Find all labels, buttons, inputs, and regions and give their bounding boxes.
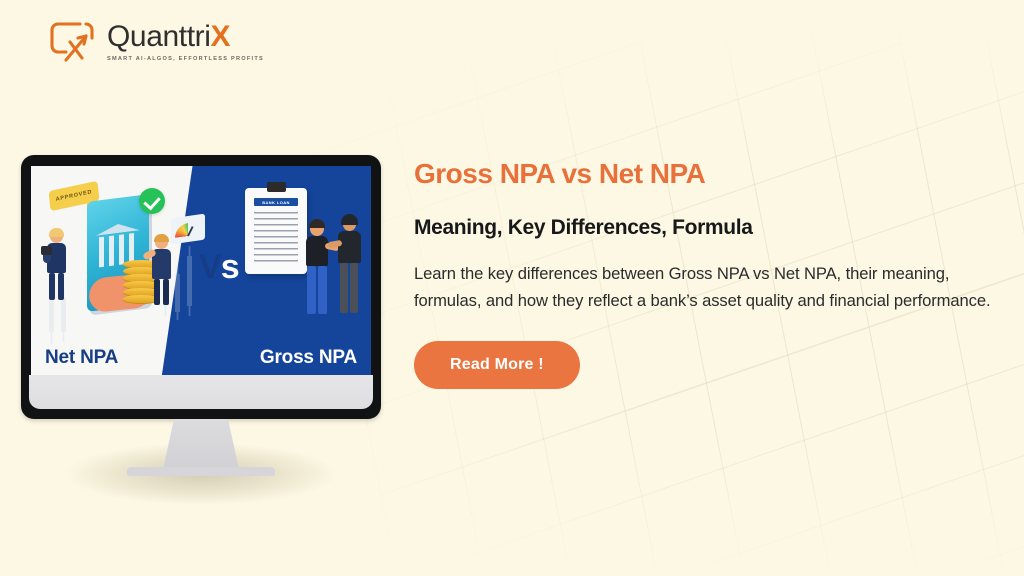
person-torso <box>306 236 328 266</box>
person-banker-left <box>149 236 177 306</box>
versus-v: V <box>199 248 221 286</box>
wordmark-accent: X <box>211 20 231 53</box>
description-text: Learn the key differences between Gross … <box>414 261 996 315</box>
person-bank-officer-right <box>335 218 365 318</box>
brand-tagline: SMART AI-ALGOS, EFFORTLESS PROFITS <box>107 56 264 62</box>
monitor-chin <box>29 375 373 409</box>
person-tablet <box>41 246 52 255</box>
clipboard-clamp <box>267 182 286 192</box>
wordmark-main: Quanttri <box>107 20 211 53</box>
monitor-screen: APPROVED <box>31 166 371 375</box>
person-leg <box>163 279 169 305</box>
person-borrower-right <box>303 222 333 318</box>
person-hair <box>154 234 169 242</box>
page-subtitle: Meaning, Key Differences, Formula <box>414 215 1004 240</box>
person-leg <box>307 266 316 314</box>
quanttrix-bracket-arrow-icon <box>44 16 96 68</box>
person-hair <box>49 228 64 237</box>
monitor-stand-foot <box>127 467 275 476</box>
person-leg <box>49 273 55 300</box>
monitor-mockup: APPROVED <box>21 155 381 476</box>
versus-label: Vs <box>199 250 239 284</box>
monitor-bezel: APPROVED <box>21 155 381 419</box>
person-hair <box>309 219 325 228</box>
versus-s: s <box>221 248 239 286</box>
clipboard-text-lines <box>254 212 298 264</box>
person-leg <box>318 266 327 314</box>
person-torso <box>338 231 361 263</box>
illustration-captions: Net NPA Gross NPA <box>31 347 371 369</box>
person-analyst-left <box>45 230 69 302</box>
person-hair <box>341 214 358 225</box>
caption-gross-npa: Gross NPA <box>260 347 357 369</box>
clipboard-header-label: BANK LOAN <box>254 198 298 206</box>
person-leg <box>58 273 64 300</box>
caption-net-npa: Net NPA <box>45 347 118 369</box>
brand-logo[interactable]: QuanttriX SMART AI-ALGOS, EFFORTLESS PRO… <box>44 16 264 68</box>
bank-loan-clipboard-icon: BANK LOAN <box>245 188 307 274</box>
brand-wordmark: QuanttriX <box>107 22 264 53</box>
content-column: Gross NPA vs Net NPA Meaning, Key Differ… <box>414 158 1004 389</box>
person-leg <box>340 263 348 313</box>
person-leg <box>350 263 358 313</box>
person-leg <box>154 279 160 305</box>
approved-check-icon <box>139 188 165 214</box>
monitor-stand-neck <box>164 419 239 467</box>
read-more-button[interactable]: Read More ! <box>414 341 580 389</box>
page-title: Gross NPA vs Net NPA <box>414 158 1004 190</box>
npa-comparison-illustration: APPROVED <box>31 166 371 375</box>
